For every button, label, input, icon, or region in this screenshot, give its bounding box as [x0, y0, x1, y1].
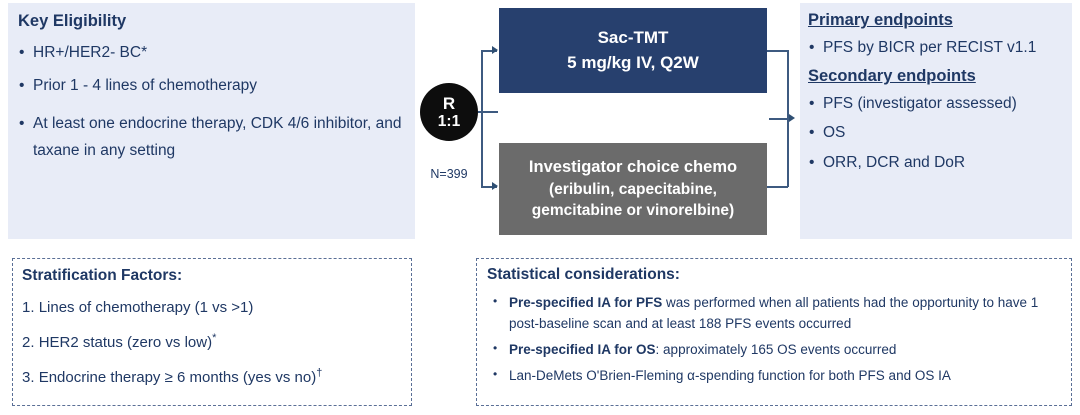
split-connector-vertical	[481, 50, 483, 187]
list-item-bold-lead: Pre-specified IA for OS	[509, 342, 656, 357]
experimental-arm-dose: 5 mg/kg IV, Q2W	[567, 51, 699, 76]
list-item-label: Lan-DeMets O'Brien-Fleming α-spending fu…	[509, 368, 951, 383]
merge-connector-from-experimental	[767, 50, 788, 52]
arrow-into-endpoints-panel	[789, 114, 795, 122]
list-item: 1. Lines of chemotherapy (1 vs >1)	[22, 297, 403, 318]
list-item-label: Prior 1 - 4 lines of chemotherapy	[33, 77, 257, 94]
list-item: • HR+/HER2- BC*	[18, 43, 405, 62]
list-item: • Pre-specified IA for PFS was performed…	[487, 293, 1062, 335]
list-item-number: 2.	[22, 334, 35, 351]
list-item-bold-lead: Pre-specified IA for PFS	[509, 295, 662, 310]
bullet-icon: •	[493, 365, 497, 384]
list-item: • OS	[808, 123, 1066, 142]
randomization-sample-size: N=399	[420, 167, 478, 181]
bullet-icon: •	[809, 94, 814, 113]
stratification-list: 1. Lines of chemotherapy (1 vs >1) 2. HE…	[22, 297, 403, 387]
footnote-marker: †	[316, 367, 322, 379]
bullet-icon: •	[19, 110, 24, 137]
key-eligibility-panel: Key Eligibility • HR+/HER2- BC* • Prior …	[8, 3, 415, 239]
arrow-into-experimental-arm	[492, 46, 498, 54]
control-arm-name: Investigator choice chemo	[529, 156, 737, 179]
arrow-into-control-arm	[492, 182, 498, 190]
statistics-heading: Statistical considerations:	[487, 266, 1062, 284]
randomization-node: R 1:1	[420, 83, 478, 141]
list-item: 3. Endocrine therapy ≥ 6 months (yes vs …	[22, 367, 403, 388]
list-item: • PFS (investigator assessed)	[808, 94, 1066, 113]
key-eligibility-list: • HR+/HER2- BC* • Prior 1 - 4 lines of c…	[18, 43, 405, 164]
list-item: • Pre-specified IA for OS: approximately…	[487, 340, 1062, 361]
experimental-arm-box: Sac-TMT 5 mg/kg IV, Q2W	[499, 8, 767, 93]
list-item-number: 3.	[22, 369, 35, 386]
statistics-list: • Pre-specified IA for PFS was performed…	[487, 293, 1062, 387]
key-eligibility-heading: Key Eligibility	[18, 12, 405, 32]
list-item: • ORR, DCR and DoR	[808, 153, 1066, 172]
control-arm-detail-line2: gemcitabine or vinorelbine)	[532, 200, 734, 221]
secondary-endpoints-heading: Secondary endpoints	[808, 67, 1066, 87]
list-item-label: OS	[823, 124, 845, 141]
list-item-label: HR+/HER2- BC*	[33, 44, 147, 61]
control-arm-detail-line1: (eribulin, capecitabine,	[549, 179, 717, 200]
bullet-icon: •	[809, 153, 814, 172]
footnote-marker: *	[212, 332, 216, 344]
list-item: • PFS by BICR per RECIST v1.1	[808, 38, 1066, 57]
primary-endpoints-list: • PFS by BICR per RECIST v1.1	[808, 38, 1066, 57]
list-item: • Prior 1 - 4 lines of chemotherapy	[18, 76, 405, 95]
list-item-number: 1.	[22, 299, 35, 316]
bullet-icon: •	[809, 123, 814, 142]
experimental-arm-name: Sac-TMT	[598, 26, 669, 51]
secondary-endpoints-list: • PFS (investigator assessed) • OS • ORR…	[808, 94, 1066, 172]
list-item: • Lan-DeMets O'Brien-Fleming α-spending …	[487, 366, 1062, 387]
bullet-icon: •	[809, 38, 814, 57]
list-item-label: PFS by BICR per RECIST v1.1	[823, 39, 1036, 56]
statistical-considerations-box: Statistical considerations: • Pre-specif…	[476, 258, 1072, 406]
list-item: • At least one endocrine therapy, CDK 4/…	[18, 110, 405, 164]
list-item-label: PFS (investigator assessed)	[823, 95, 1017, 112]
randomization-ratio: 1:1	[438, 113, 460, 130]
randomization-letter: R	[443, 94, 455, 113]
stratification-heading: Stratification Factors:	[22, 267, 403, 285]
list-item-label: : approximately 165 OS events occurred	[656, 342, 897, 357]
bullet-icon: •	[19, 43, 24, 62]
list-item: 2. HER2 status (zero vs low)*	[22, 332, 403, 353]
merge-connector-stub	[769, 118, 789, 120]
bullet-icon: •	[19, 76, 24, 95]
list-item-label: ORR, DCR and DoR	[823, 154, 965, 171]
merge-connector-from-control	[767, 186, 788, 188]
list-item-label: Endocrine therapy ≥ 6 months (yes vs no)	[39, 369, 317, 386]
list-item-label: Lines of chemotherapy (1 vs >1)	[39, 299, 254, 316]
control-arm-box: Investigator choice chemo (eribulin, cap…	[499, 143, 767, 235]
list-item-label: At least one endocrine therapy, CDK 4/6 …	[33, 115, 402, 159]
list-item-label: HER2 status (zero vs low)	[39, 334, 212, 351]
primary-endpoints-heading: Primary endpoints	[808, 11, 1066, 31]
bullet-icon: •	[493, 292, 497, 311]
stratification-factors-box: Stratification Factors: 1. Lines of chem…	[12, 258, 412, 406]
bullet-icon: •	[493, 339, 497, 358]
endpoints-panel: Primary endpoints • PFS by BICR per RECI…	[800, 3, 1072, 239]
